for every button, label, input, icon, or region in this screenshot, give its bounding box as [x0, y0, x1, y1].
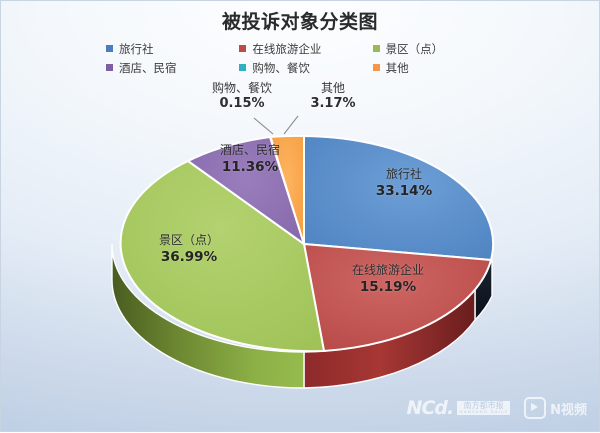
watermark-group: NCd. 南方都市报 NANFANG DAILY N视频 [393, 397, 587, 419]
pie-chart-area: 购物、餐饮 0.15% 其他 3.17% 旅行社 33.14% 在线旅游企业 1… [1, 1, 600, 433]
slice-label-name: 旅行社 [349, 167, 459, 183]
watermark-nvideo: N视频 [524, 397, 587, 419]
nandu-brand-text: 南方都市报 NANFANG DAILY [457, 401, 510, 416]
slice-label-percent: 15.19% [323, 279, 453, 297]
slice-label-name: 酒店、民宿 [195, 143, 305, 159]
callout-name: 购物、餐饮 [187, 81, 297, 96]
play-button-icon [524, 397, 546, 419]
callout-label-shopping-dining: 购物、餐饮 0.15% [187, 81, 297, 112]
leader-line-other [284, 116, 298, 134]
slice-label-scenic-area: 景区（点） 36.99% [129, 233, 249, 266]
slice-label-percent: 33.14% [349, 183, 459, 201]
watermark-nandu: NCd. 南方都市报 NANFANG DAILY [407, 399, 511, 418]
callout-label-other: 其他 3.17% [294, 81, 372, 112]
slice-label-percent: 11.36% [195, 159, 305, 177]
chart-figure: 被投诉对象分类图 旅行社 在线旅游企业 景区（点） 酒店、民宿 购物、餐饮 其他 [0, 0, 600, 432]
slice-label-hotel-homestay: 酒店、民宿 11.36% [195, 143, 305, 176]
callout-percent: 3.17% [294, 96, 372, 112]
callout-percent: 0.15% [187, 96, 297, 112]
slice-label-name: 景区（点） [129, 233, 249, 249]
slice-label-online-travel: 在线旅游企业 15.19% [323, 263, 453, 296]
nandu-logo-icon: NCd. [407, 399, 454, 418]
pie-chart-svg [1, 1, 600, 433]
callout-name: 其他 [294, 81, 372, 96]
slice-label-percent: 36.99% [129, 249, 249, 267]
slice-label-name: 在线旅游企业 [323, 263, 453, 279]
leader-line-shopping-dining [254, 118, 273, 134]
slice-label-travel-agency: 旅行社 33.14% [349, 167, 459, 200]
nvideo-brand-text: N视频 [550, 399, 587, 418]
